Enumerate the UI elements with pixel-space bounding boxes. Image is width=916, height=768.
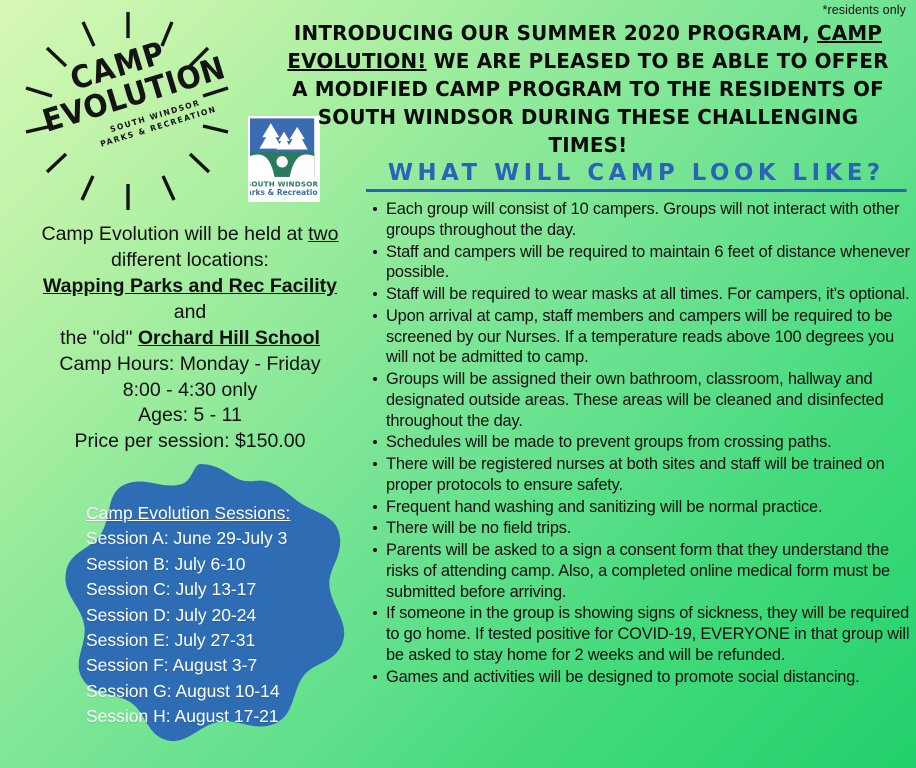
session-item: Session E: July 27-31 xyxy=(86,628,336,653)
session-item: Session H: August 17-21 xyxy=(86,704,336,729)
residents-only-note: *residents only xyxy=(823,3,907,17)
session-item: Session B: July 6-10 xyxy=(86,552,336,577)
sessions-badge: Camp Evolution Sessions: Session A: June… xyxy=(50,458,350,758)
camp-hours-days: Camp Hours: Monday - Friday xyxy=(14,352,366,378)
session-item: Session A: June 29-July 3 xyxy=(86,526,336,551)
locations-intro-2: different locations: xyxy=(14,248,366,274)
list-item: Groups will be assigned their own bathro… xyxy=(366,369,912,431)
list-item: There will be no field trips. xyxy=(366,518,912,539)
location-2-prefix: the "old" xyxy=(60,327,138,349)
svg-text:Parks & Recreation: Parks & Recreation xyxy=(250,188,318,197)
list-item: Games and activities will be designed to… xyxy=(366,667,912,688)
section-heading: WHAT WILL CAMP LOOK LIKE? xyxy=(366,160,907,192)
locations-conjunction: and xyxy=(14,300,366,326)
page-title: INTRODUCING OUR SUMMER 2020 PROGRAM, CAM… xyxy=(278,20,899,159)
list-item: Staff will be required to wear masks at … xyxy=(366,284,912,305)
camp-hours-time: 8:00 - 4:30 only xyxy=(14,378,366,404)
session-item: Session G: August 10-14 xyxy=(86,679,336,704)
camp-guidelines-list: Each group will consist of 10 campers. G… xyxy=(366,199,912,687)
session-item: Session D: July 20-24 xyxy=(86,603,336,628)
list-item: Schedules will be made to prevent groups… xyxy=(366,432,912,453)
locations-two-word: two xyxy=(308,223,338,245)
locations-intro: Camp Evolution will be held at two xyxy=(14,222,366,248)
location-1-label: Wapping Parks and Rec Facility xyxy=(43,275,337,297)
list-item: Parents will be asked to a sign a consen… xyxy=(366,540,912,602)
location-2: the "old" Orchard Hill School xyxy=(14,326,366,352)
camp-ages: Ages: 5 - 11 xyxy=(14,403,366,429)
headline-part-1: INTRODUCING OUR SUMMER 2020 PROGRAM, xyxy=(294,21,817,45)
list-item: Staff and campers will be required to ma… xyxy=(366,242,912,284)
list-item: Frequent hand washing and sanitizing wil… xyxy=(366,497,912,518)
camp-price: Price per session: $150.00 xyxy=(14,429,366,455)
locations-intro-text: Camp Evolution will be held at xyxy=(42,223,309,245)
location-2-label: Orchard Hill School xyxy=(138,327,320,349)
list-item: If someone in the group is showing signs… xyxy=(366,603,912,665)
list-item: Upon arrival at camp, staff members and … xyxy=(366,306,912,368)
session-item: Session F: August 3-7 xyxy=(86,653,336,678)
camp-details-block: Camp Evolution will be held at two diffe… xyxy=(14,222,366,455)
session-item: Session C: July 13-17 xyxy=(86,577,336,602)
sessions-title: Camp Evolution Sessions: xyxy=(86,501,336,526)
camp-evolution-logo: CAMP EVOLUTION SOUTH WINDSOR PARKS & REC… xyxy=(6,4,246,214)
list-item: There will be registered nurses at both … xyxy=(366,454,912,496)
location-1: Wapping Parks and Rec Facility xyxy=(14,274,366,300)
list-item: Each group will consist of 10 campers. G… xyxy=(366,199,912,241)
what-will-camp-look-like-panel: WHAT WILL CAMP LOOK LIKE? Each group wil… xyxy=(366,160,912,688)
